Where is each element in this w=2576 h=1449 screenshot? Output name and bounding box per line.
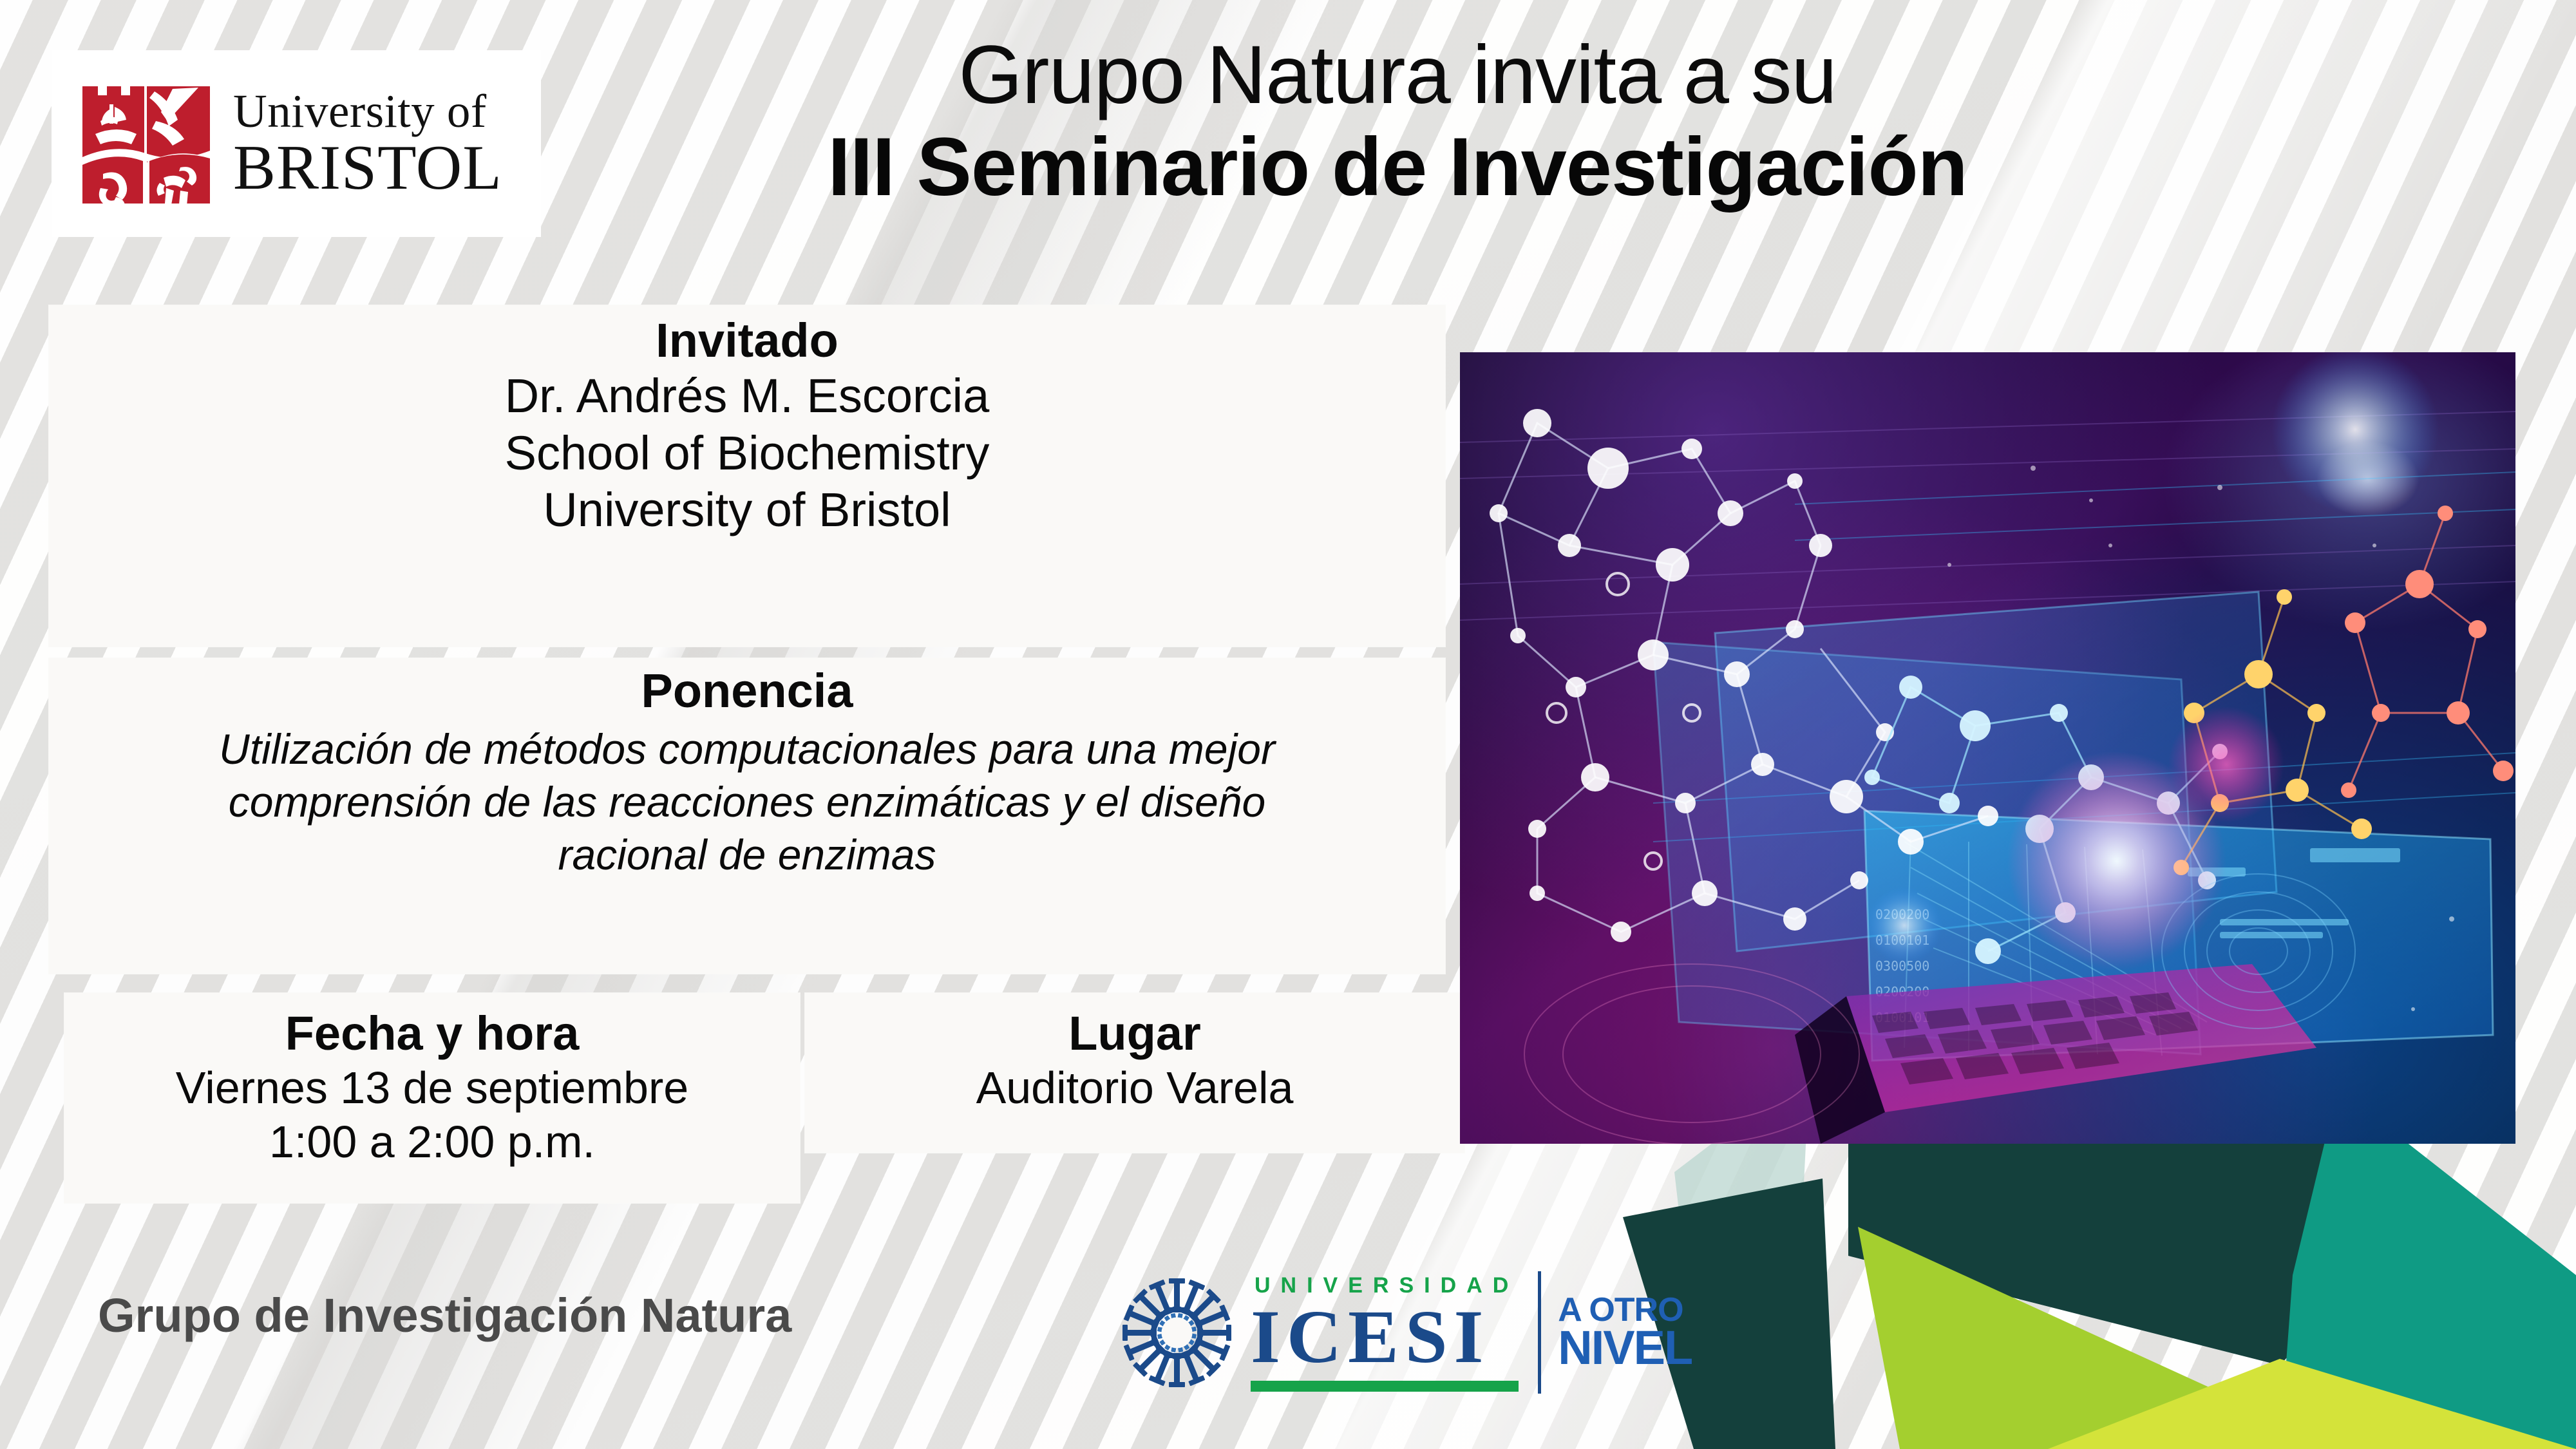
ponencia-heading: Ponencia (641, 665, 853, 718)
panel-fecha-y-hora: Fecha y hora Viernes 13 de septiembre 1:… (64, 993, 800, 1203)
ponencia-line-2: comprensión de las reacciones enzimática… (229, 776, 1266, 829)
title-line-1: Grupo Natura invita a su (644, 31, 2151, 120)
icesi-sun-emblem-icon (1117, 1273, 1236, 1392)
invitado-line-2: School of Biochemistry (505, 425, 990, 482)
fecha-line-2: 1:00 a 2:00 p.m. (269, 1115, 595, 1169)
icesi-tagline: A OTRO NIVEL (1558, 1295, 1692, 1370)
icesi-wordmark: UNIVERSIDAD ICESI (1251, 1273, 1519, 1392)
poster-canvas: University of BRISTOL Grupo Natura invit… (0, 0, 2576, 1449)
fecha-heading: Fecha y hora (285, 1007, 580, 1061)
icesi-green-rule (1251, 1381, 1519, 1392)
icesi-tagline-line2: NIVEL (1558, 1326, 1692, 1370)
bristol-crest-icon (79, 75, 214, 213)
invitado-line-3: University of Bristol (543, 482, 951, 539)
hero-molecular-network-layer: 02002000100101 03005000200200 0100101 (1460, 352, 2515, 1144)
icesi-name-text: ICESI (1251, 1300, 1519, 1374)
universidad-icesi-logo: UNIVERSIDAD ICESI A OTRO NIVEL (1117, 1258, 1652, 1407)
panel-lugar: Lugar Auditorio Varela (805, 993, 1464, 1153)
fecha-line-1: Viernes 13 de septiembre (176, 1061, 688, 1115)
icesi-divider (1538, 1271, 1541, 1394)
bristol-logo-line2: BRISTOL (233, 137, 502, 198)
title-line-2: III Seminario de Investigación (644, 122, 2151, 213)
invitado-heading: Invitado (656, 314, 838, 368)
ponencia-line-3: racional de enzimas (558, 829, 936, 882)
poster-title: Grupo Natura invita a su III Seminario d… (644, 31, 2151, 213)
bristol-logo-line1: University of (233, 89, 502, 134)
panel-ponencia: Ponencia Utilización de métodos computac… (49, 658, 1445, 974)
university-of-bristol-logo: University of BRISTOL (52, 50, 541, 237)
lugar-line-1: Auditorio Varela (976, 1061, 1294, 1115)
lugar-heading: Lugar (1068, 1007, 1201, 1061)
invitado-line-1: Dr. Andrés M. Escorcia (505, 368, 990, 425)
bristol-wordmark: University of BRISTOL (233, 89, 502, 198)
hero-technology-image: 02002000100101 03005000200200 0100101 (1460, 352, 2515, 1144)
research-group-name: Grupo de Investigación Natura (98, 1288, 791, 1343)
panel-invitado: Invitado Dr. Andrés M. Escorcia School o… (49, 305, 1445, 647)
ponencia-line-1: Utilización de métodos computacionales p… (219, 723, 1275, 776)
